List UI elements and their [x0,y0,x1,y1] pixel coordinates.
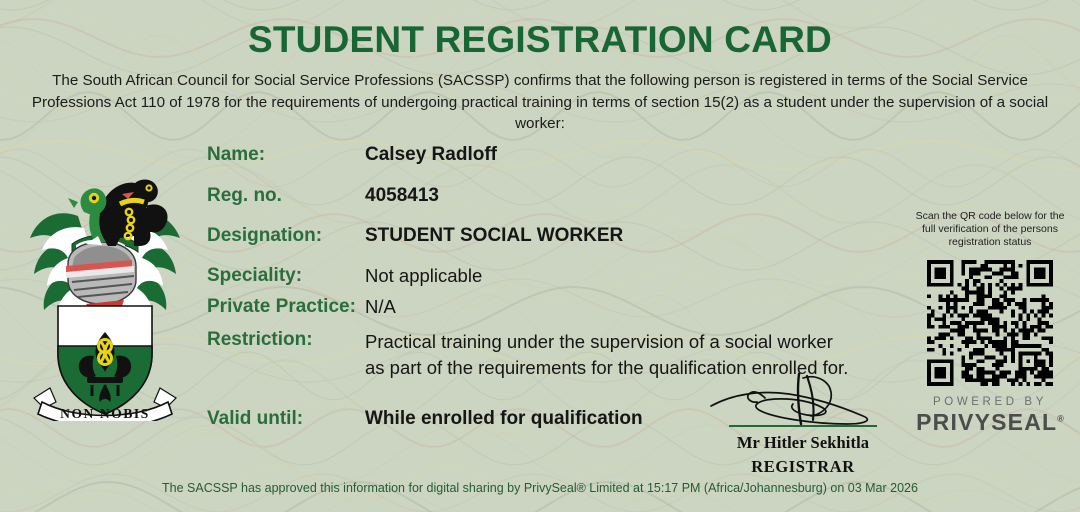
signature-block: Mr Hitler Sekhitla REGISTRAR [688,372,918,477]
qr-instruction-text: Scan the QR code below for the full veri… [910,210,1070,249]
field-row-private-practice: Private Practice: N/A [207,296,396,317]
privyseal-logo: PRIVYSEAL® [916,409,1064,436]
field-row-designation: Designation: STUDENT SOCIAL WORKER [207,225,623,246]
value-private-practice: N/A [365,296,396,317]
value-valid-until: While enrolled for qualification [365,408,643,429]
registrar-role: REGISTRAR [688,457,918,477]
restriction-line-1: Practical training under the supervision… [365,331,833,352]
value-designation: STUDENT SOCIAL WORKER [365,225,623,246]
label-private-practice: Private Practice: [207,296,365,317]
label-speciality: Speciality: [207,265,365,286]
intro-paragraph: The South African Council for Social Ser… [28,70,1052,135]
value-reg-no: 4058413 [365,185,439,206]
signature-mark [703,372,903,427]
signature-line [729,425,877,427]
label-reg-no: Reg. no. [207,185,365,206]
sacssp-coat-of-arms: NON NOBIS [16,146,194,421]
label-restriction: Restriction: [207,329,365,350]
registrar-name: Mr Hitler Sekhitla [688,433,918,453]
crest-motto: NON NOBIS [60,406,150,421]
label-valid-until: Valid until: [207,408,365,429]
field-row-name: Name: Calsey Radloff [207,144,497,165]
value-name: Calsey Radloff [365,144,497,165]
value-speciality: Not applicable [365,265,482,286]
powered-by-label: POWERED BY [900,396,1080,408]
qr-code[interactable] [927,260,1053,386]
field-row-speciality: Speciality: Not applicable [207,265,482,286]
privyseal-wordmark: PRIVYSEAL [916,409,1057,435]
label-name: Name: [207,144,365,165]
registered-trademark-icon: ® [1057,413,1064,423]
field-row-reg-no: Reg. no. 4058413 [207,185,439,206]
label-designation: Designation: [207,225,365,246]
approval-footer: The SACSSP has approved this information… [0,481,1080,495]
page-title: STUDENT REGISTRATION CARD [0,19,1080,61]
student-registration-card: STUDENT REGISTRATION CARD The South Afri… [0,0,1080,512]
field-row-valid-until: Valid until: While enrolled for qualific… [207,408,643,429]
qr-verification-panel: Scan the QR code below for the full veri… [900,210,1080,436]
